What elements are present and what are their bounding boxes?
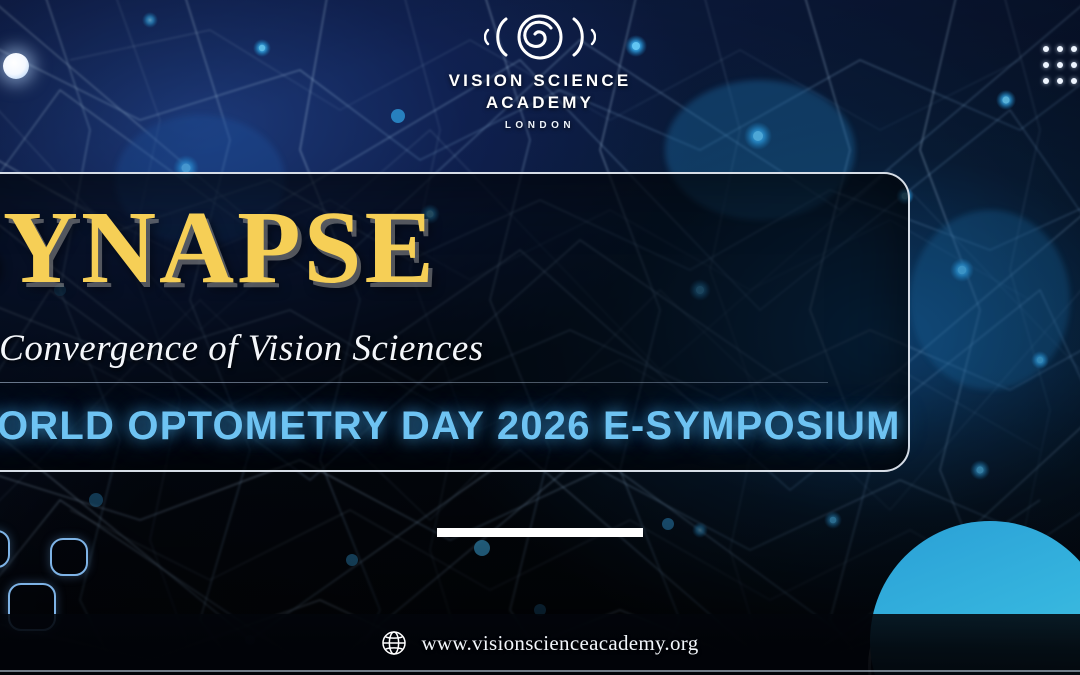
hero-subtitle: A Convergence of Vision Sciences (0, 327, 484, 370)
eye-spiral-in-circle-with-brackets-icon (484, 10, 596, 64)
footer-row: www.visionscienceacademy.org (0, 630, 1080, 656)
poster-canvas: VISION SCIENCE ACADEMY LONDON SYNAPSE A … (0, 0, 1080, 675)
logo-line-3: LONDON (505, 120, 575, 131)
footer-hairline (0, 670, 1080, 672)
page-title: SYNAPSE (0, 196, 437, 300)
hero-divider-rule (0, 382, 828, 383)
logo-line-2: ACADEMY (486, 93, 594, 113)
logo-line-1: VISION SCIENCE (449, 71, 632, 91)
globe-icon (381, 630, 407, 656)
event-line: WORLD OPTOMETRY DAY 2026 E-SYMPOSIUM (0, 404, 901, 449)
white-divider-bar (437, 528, 643, 537)
brand-logo: VISION SCIENCE ACADEMY LONDON (0, 10, 1080, 131)
footer-website-url[interactable]: www.visionscienceacademy.org (421, 631, 698, 656)
rounded-square-outline-icon (50, 538, 88, 576)
